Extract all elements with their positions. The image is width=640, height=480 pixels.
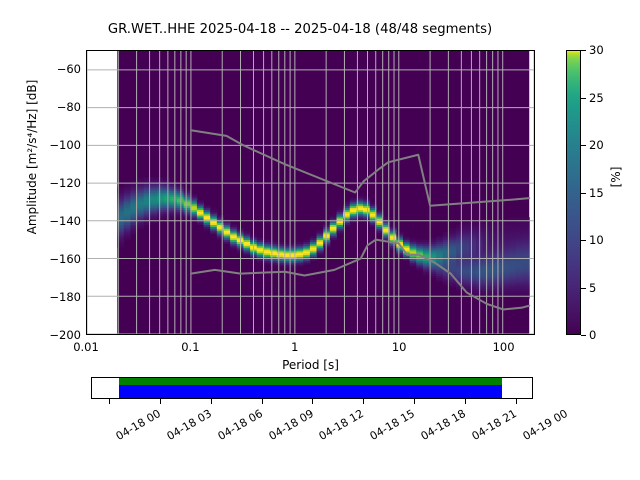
y-tick-label: −60 [5,62,81,76]
colorbar-tick [581,145,586,146]
timeline-tick [465,399,466,404]
timeline-tick [516,399,517,404]
colorbar-tick-label: 5 [589,281,596,295]
colorbar-tick-label: 25 [589,91,604,105]
x-axis-label: Period [s] [86,358,535,372]
colorbar-tick [581,335,586,336]
timeline-tick-label: 04-18 06 [215,407,264,443]
y-tick-label: −200 [5,328,81,342]
timeline-tick [414,399,415,404]
ppsd-histogram-canvas [87,51,534,334]
y-tick-label: −160 [5,252,81,266]
ppsd-plot-area [86,50,535,335]
colorbar-tick [581,193,586,194]
colorbar-tick [581,240,586,241]
colorbar-tick-label: 30 [589,43,604,57]
timeline-tick [109,399,110,404]
colorbar-tick-label: 20 [589,138,604,152]
colorbar-tick [581,288,586,289]
colorbar-tick-label: 0 [589,328,596,342]
y-tick-label: −140 [5,214,81,228]
timeline-tick [211,399,212,404]
y-tick-labels: −60−80−100−120−140−160−180−200 [0,0,81,480]
page-title: GR.WET..HHE 2025-04-18 -- 2025-04-18 (48… [0,22,600,37]
colorbar-tick [581,50,586,51]
timeline-tick-label: 04-18 09 [266,407,315,443]
timeline-tick-label: 04-18 15 [368,407,417,443]
x-tick-label: 0.1 [181,340,199,354]
timeline-tick-label: 04-18 00 [113,407,162,443]
colorbar [566,50,581,335]
timeline-tick-label: 04-18 12 [317,407,366,443]
timeline-axis [91,377,533,399]
timeline-tick-label: 04-19 00 [521,407,570,443]
x-tick-label: 0.01 [73,340,99,354]
timeline-tick-label: 04-18 03 [164,407,213,443]
y-tick-label: −80 [5,100,81,114]
timeline-tick-label: 04-18 18 [419,407,468,443]
timeline-tick [363,399,364,404]
colorbar-tick-label: 10 [589,233,604,247]
timeline-band-used [119,378,502,385]
x-tick-label: 100 [493,340,515,354]
y-tick-label: −120 [5,176,81,190]
x-tick-label: 1 [291,340,298,354]
colorbar-tick-label: 15 [589,186,604,200]
ppsd-figure: GR.WET..HHE 2025-04-18 -- 2025-04-18 (48… [0,0,640,480]
timeline-tick [160,399,161,404]
timeline-band-data [119,385,502,398]
x-tick-label: 10 [392,340,407,354]
timeline-tick [262,399,263,404]
timeline-tick-label: 04-18 21 [470,407,519,443]
colorbar-label: [%] [609,117,623,237]
timeline-tick [312,399,313,404]
y-tick-label: −180 [5,290,81,304]
colorbar-tick [581,98,586,99]
y-tick-label: −100 [5,138,81,152]
